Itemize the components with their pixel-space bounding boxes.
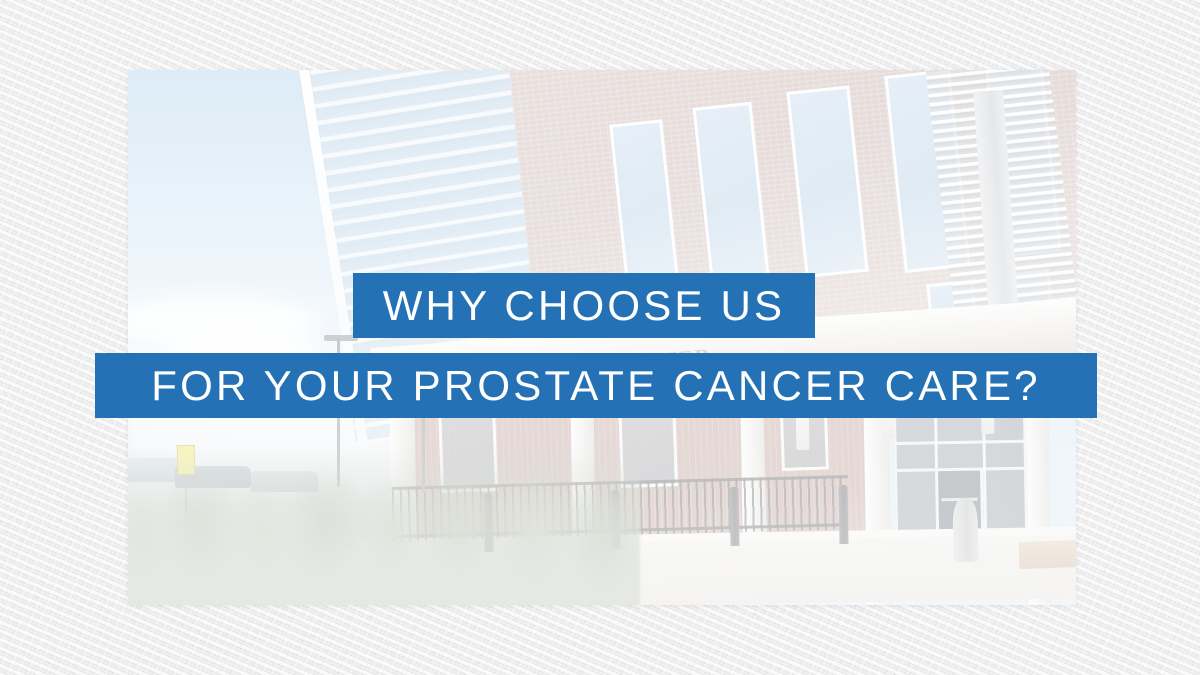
bollard	[838, 485, 848, 544]
bollard	[729, 487, 739, 546]
slide-canvas: NESS CENTER	[0, 0, 1200, 675]
storefront-mullion	[896, 439, 1023, 444]
headline-banner-line-1: WHY CHOOSE US	[353, 273, 815, 338]
shrub-hedge	[128, 445, 640, 606]
bench	[1019, 540, 1076, 569]
trash-receptacle	[952, 498, 978, 563]
headline-banner-line-2: FOR YOUR PROSTATE CANCER CARE?	[95, 353, 1097, 418]
